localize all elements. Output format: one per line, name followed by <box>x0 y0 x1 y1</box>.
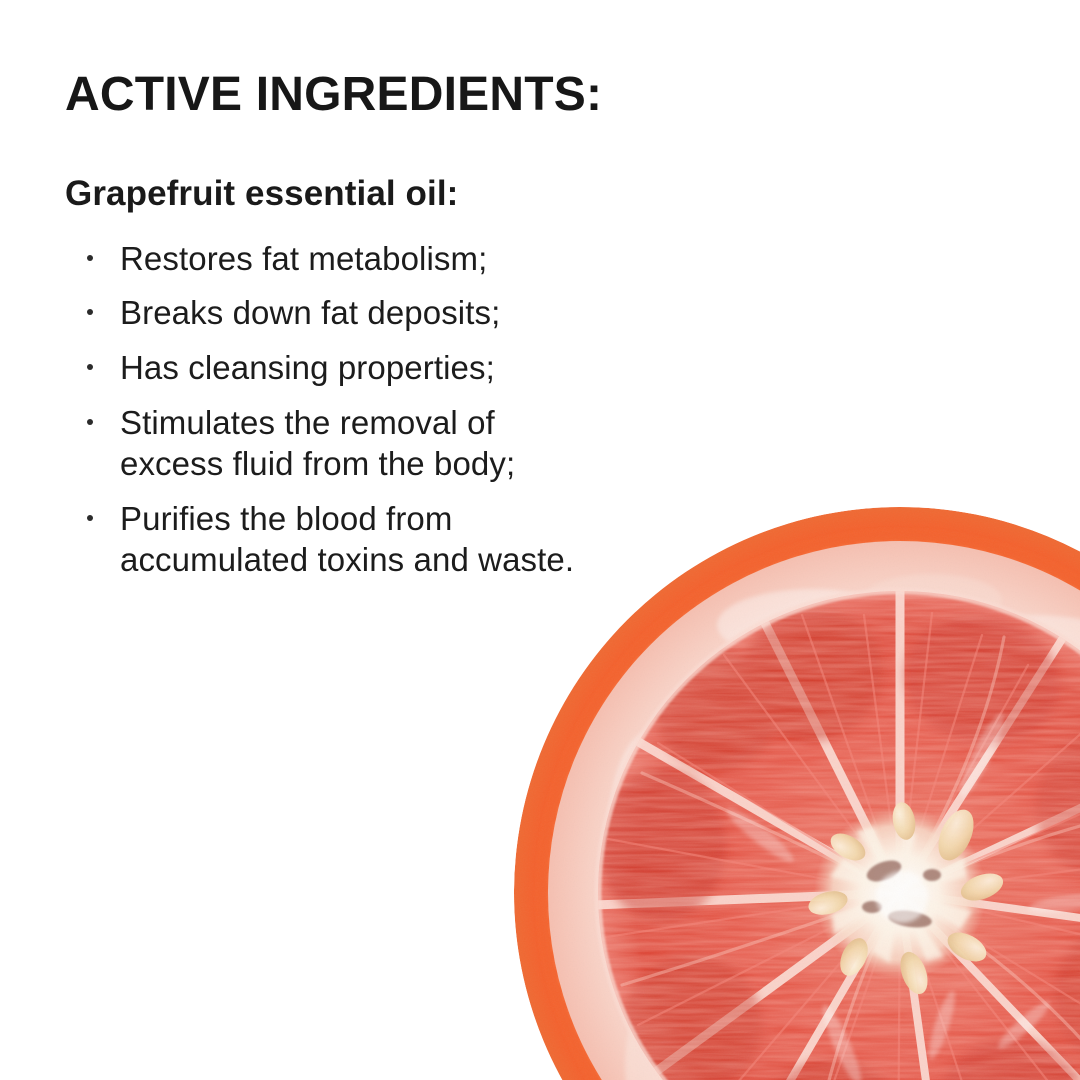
list-item: Stimulates the removal of excess fluid f… <box>65 402 765 485</box>
list-item-label: Stimulates the removal of excess fluid f… <box>120 402 765 485</box>
benefits-list: Restores fat metabolism; Breaks down fat… <box>65 214 765 581</box>
bullet-dot-icon <box>87 309 93 315</box>
list-item: Restores fat metabolism; <box>65 238 765 280</box>
ingredients-text-block: ACTIVE INGREDIENTS: Grapefruit essential… <box>65 0 765 594</box>
list-item-label: Restores fat metabolism; <box>120 238 765 280</box>
bullet-dot-icon <box>87 364 93 370</box>
list-item-label: Has cleansing properties; <box>120 347 765 389</box>
bullet-dot-icon <box>87 255 93 261</box>
list-item-label: Breaks down fat deposits; <box>120 292 765 334</box>
list-item: Has cleansing properties; <box>65 347 765 389</box>
bullet-dot-icon <box>87 515 93 521</box>
poster-canvas: ACTIVE INGREDIENTS: Grapefruit essential… <box>0 0 1080 1080</box>
list-item: Breaks down fat deposits; <box>65 292 765 334</box>
list-item: Purifies the blood from accumulated toxi… <box>65 498 765 581</box>
list-item-label: Purifies the blood from accumulated toxi… <box>120 498 765 581</box>
ingredient-name: Grapefruit essential oil: <box>65 120 765 214</box>
page-title: ACTIVE INGREDIENTS: <box>65 0 765 120</box>
bullet-dot-icon <box>87 419 93 425</box>
